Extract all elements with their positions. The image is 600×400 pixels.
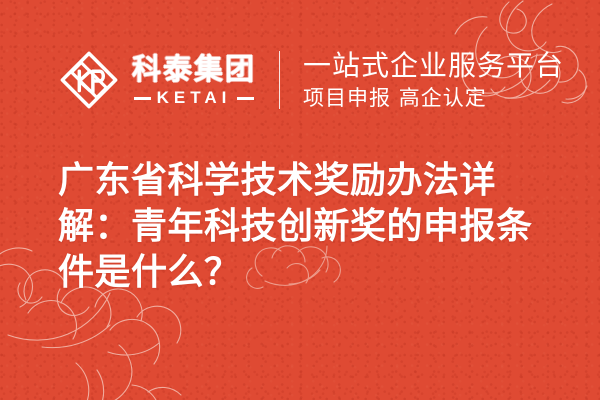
tagline-primary: 一站式企业服务平台 xyxy=(303,51,564,80)
promo-banner: 科泰集团 KETAI 一站式企业服务平台 项目申报 高企认定 广东省科学技术奖励… xyxy=(0,0,600,400)
brand-wordmark: 科泰集团 KETAI xyxy=(132,53,256,107)
banner-headline: 广东省科学技术奖励办法详解：青年科技创新奖的申报条件是什么？ xyxy=(58,158,546,296)
brand-lockup: 科泰集团 KETAI xyxy=(58,49,256,111)
tagline-secondary: 项目申报 高企认定 xyxy=(303,88,564,109)
header-divider xyxy=(279,51,280,109)
ketai-logo-icon xyxy=(58,49,120,111)
brand-name-en: KETAI xyxy=(157,89,232,106)
brand-name-cn: 科泰集团 xyxy=(132,55,256,84)
banner-header: 科泰集团 KETAI 一站式企业服务平台 项目申报 高企认定 xyxy=(0,40,600,120)
brand-dash-right xyxy=(237,97,254,100)
tagline-group: 一站式企业服务平台 项目申报 高企认定 xyxy=(303,51,564,109)
brand-dash-left xyxy=(134,97,151,100)
brand-name-en-row: KETAI xyxy=(132,90,256,107)
